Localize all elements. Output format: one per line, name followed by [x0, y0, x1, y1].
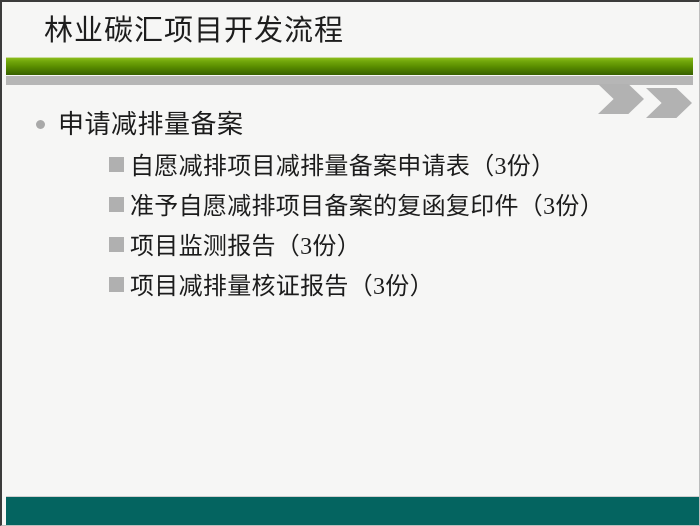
outline-item-level2: 准予自愿减排项目备案的复函复印件（3份） [2, 188, 700, 228]
outline-sublist: 自愿减排项目减排量备案申请表（3份） 准予自愿减排项目备案的复函复印件（3份） … [2, 148, 700, 308]
outline-item-level2: 项目减排量核证报告（3份） [2, 268, 700, 308]
slide-title-region: 林业碳汇项目开发流程 [2, 2, 700, 58]
square-bullet-icon [109, 237, 124, 252]
outline-item-level2: 自愿减排项目减排量备案申请表（3份） [2, 148, 700, 188]
square-bullet-icon [109, 157, 124, 172]
title-divider-gray-bar [6, 76, 693, 85]
title-divider-green-bar [6, 57, 693, 75]
page-title: 林业碳汇项目开发流程 [44, 14, 344, 48]
square-bullet-icon [109, 277, 124, 292]
outline-item-level2-label: 准予自愿减排项目备案的复函复印件（3份） [130, 194, 604, 220]
slide-body: 申请减排量备案 自愿减排项目减排量备案申请表（3份） 准予自愿减排项目备案的复函… [2, 106, 700, 308]
outline-item-level2-label: 项目减排量核证报告（3份） [130, 274, 434, 300]
slide-footer-band [6, 496, 700, 525]
circle-bullet-icon [36, 120, 45, 129]
outline-item-level2-label: 项目监测报告（3份） [130, 234, 361, 260]
outline-item-level2-label: 自愿减排项目减排量备案申请表（3份） [130, 154, 555, 180]
outline-item-level1: 申请减排量备案 [2, 106, 700, 143]
outline-item-level2: 项目监测报告（3份） [2, 228, 700, 268]
square-bullet-icon [109, 197, 124, 212]
outline-item-level1-label: 申请减排量备案 [58, 110, 244, 139]
presentation-slide: 林业碳汇项目开发流程 申请减排量备案 自愿减排项目减排量备案申请表（3份） 准予… [0, 0, 700, 526]
